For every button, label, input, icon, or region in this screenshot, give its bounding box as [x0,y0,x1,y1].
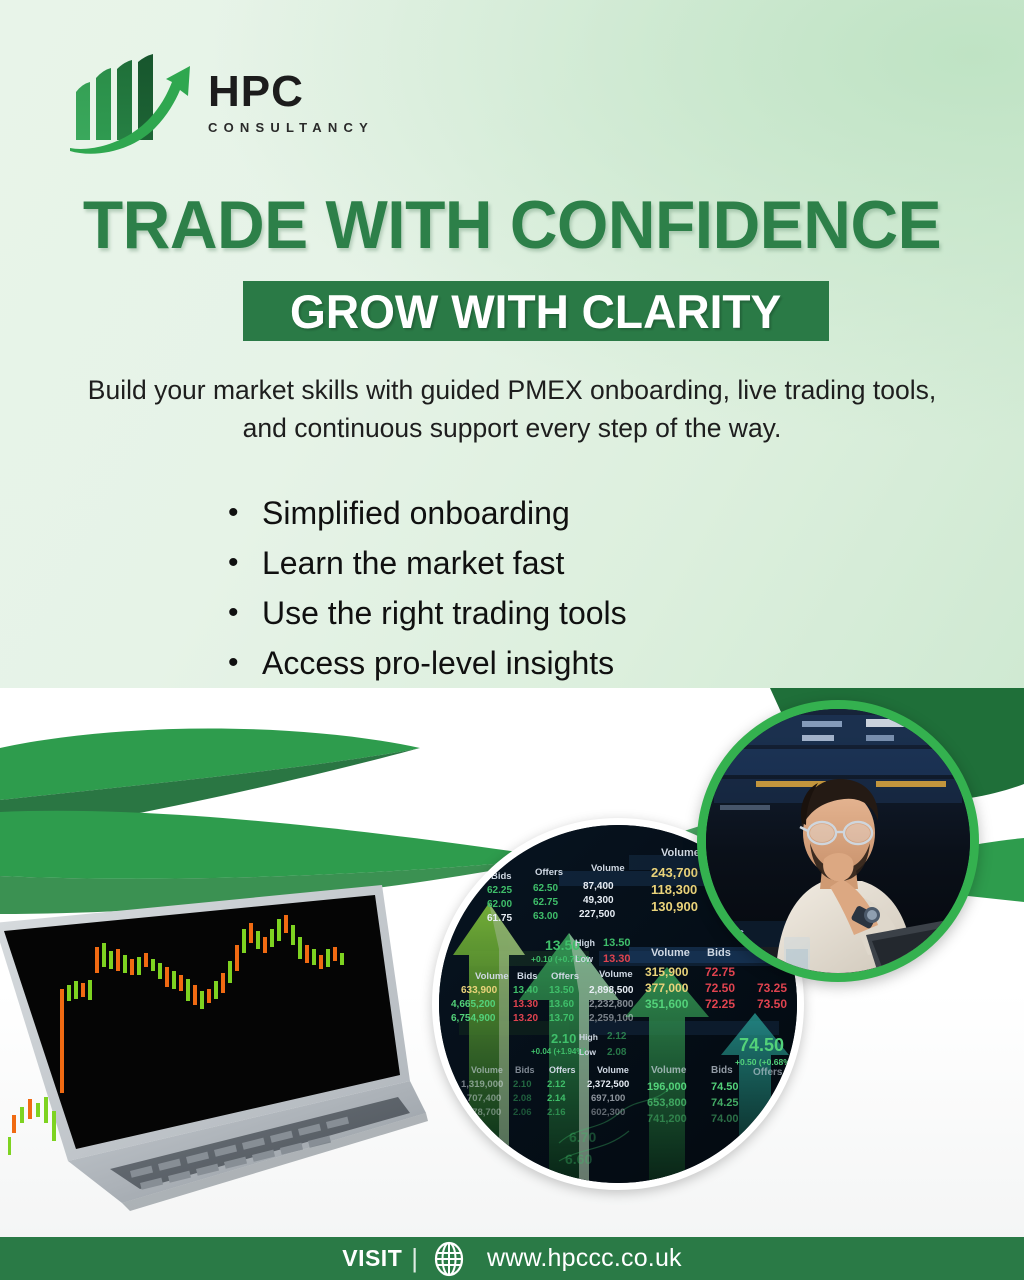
ticker-low: 2.08 [607,1047,626,1058]
board-bid: 74.00 [711,1113,739,1125]
board-volume: 633,900 [461,985,497,996]
list-item: Simplified onboarding [228,488,848,538]
board-header-offers: Offers [549,1065,576,1075]
board-volume: 6,754,900 [451,1013,496,1024]
board-header-offers: Offers [551,971,579,982]
board-bid: 2.06 [513,1107,532,1118]
ticker-high: 2.12 [607,1031,626,1042]
board-header-volume: Volume [471,1065,503,1075]
board-header-volume: Volume [591,863,625,874]
board-header-offers: Offers [535,867,563,878]
subheadline-banner: GROW WITH CLARITY [243,281,829,341]
board-price-large: 74.50 [739,1035,784,1056]
board-header-volume: Volume [475,971,509,982]
list-item: Learn the market fast [228,538,848,588]
ticker-high: 13.50 [603,937,631,949]
board-volume: 1,578,700 [459,1107,501,1118]
board-axis-label: 6.70 [569,1129,596,1145]
board-offer: 13.50 [549,985,574,996]
board-axis-label: 6.60 [565,1151,592,1167]
logo-wordmark: HPC CONSULTANCY [208,70,374,135]
board-price-change: +0.50 (+0.68%) [735,1057,794,1067]
board-header-volume: Volume [597,1065,629,1075]
footer-divider: | [411,1243,418,1274]
board-offer: 73.50 [757,997,787,1011]
board-offer: 73.25 [757,981,787,995]
board-volume: 87,400 [583,881,614,892]
board-offer: 62.50 [533,883,558,894]
board-bid: 13.40 [513,985,538,996]
board-bid: 62.25 [487,885,512,896]
ticker-change: +0.04 (+1.94%) [531,1047,586,1056]
board-volume: 227,500 [579,909,615,920]
ticker-last: 2.10 [551,1031,576,1046]
list-item: Access pro-level insights [228,638,848,688]
headline: TRADE WITH CONFIDENCE [15,186,1008,264]
logo-name: HPC [208,70,374,114]
board-header-volume: Volume [599,969,633,980]
board-volume: 49,300 [583,895,614,906]
globe-icon [431,1241,467,1277]
board-volume: 118,300 [651,882,697,897]
board-bid: 74.50 [711,1081,739,1093]
subheadline-text: GROW WITH CLARITY [290,284,781,339]
board-bid: 13.20 [513,1013,538,1024]
board-header-volume: Volume [651,1065,686,1076]
board-bid: 61.75 [487,913,512,924]
footer-content: VISIT | www.hpccc.co.uk [342,1241,682,1277]
board-volume: 377,000 [645,981,688,995]
board-volume: 2,232,800 [589,999,634,1010]
ticker-low-label: Low [579,1047,596,1057]
board-bid: 13.30 [513,999,538,1010]
brand-logo[interactable]: HPC CONSULTANCY [68,52,368,162]
ticker-low-label: Low [575,954,593,964]
board-bid: 2.08 [513,1093,532,1104]
board-header-offers: Offers [753,1067,782,1078]
board-volume: 653,800 [647,1097,687,1109]
board-volume: 602,300 [591,1107,625,1118]
board-offer: 62.75 [533,897,558,908]
svg-text:Bids: Bids [716,925,744,940]
bar-chart-arrow-logo-icon [68,52,198,157]
board-offer: 2.16 [547,1107,566,1118]
board-volume: 315,900 [645,965,688,979]
laptop-candlestick-chart [0,885,430,1215]
board-volume: 741,200 [647,1113,687,1125]
board-bid: 2.10 [513,1079,532,1090]
logo-tagline: CONSULTANCY [208,120,374,135]
board-offer: 13.60 [549,999,574,1010]
poster-canvas: HPC CONSULTANCY TRADE WITH CONFIDENCE GR… [0,0,1024,1280]
board-volume: 130,900 [651,899,698,914]
board-bid: 72.25 [705,997,735,1011]
ticker-high-label: High [579,1032,598,1042]
board-header-bids: Bids [517,971,538,982]
board-volume: 1,707,400 [459,1093,501,1104]
board-bid: 62.00 [487,899,512,910]
board-volume: 2,259,100 [589,1013,634,1024]
body-copy: Build your market skills with guided PME… [82,372,942,447]
board-bid: 74.25 [711,1097,739,1109]
board-volume: 351,600 [645,997,688,1011]
board-volume: 196,000 [647,1081,687,1093]
board-offer: 63.00 [533,911,558,922]
board-volume: 243,700 [651,865,698,880]
board-offer: 13.70 [549,1013,574,1024]
list-item: Use the right trading tools [228,588,848,638]
board-offer: 2.14 [547,1093,566,1104]
visit-label: VISIT [342,1245,402,1272]
website-link[interactable]: www.hpccc.co.uk [487,1244,682,1273]
board-header-bids: Bids [515,1065,535,1075]
board-bid: 72.50 [705,981,735,995]
board-header-bids: Bids [491,871,512,882]
board-offer: 2.12 [547,1079,566,1090]
board-volume: 2,898,500 [589,985,634,996]
ticker-low: 13.30 [603,953,631,965]
board-volume: 1,319,000 [461,1079,503,1090]
board-volume: 2,372,500 [587,1079,629,1090]
ticker-high-label: High [575,938,595,948]
board-header-bids: Bids [711,1065,733,1076]
board-volume: 697,100 [591,1093,625,1104]
footer-bar: VISIT | www.hpccc.co.uk [0,1237,1024,1280]
board-header-volume: Volume [651,947,690,959]
board-volume: 4,665,200 [451,999,496,1010]
trader-at-laptop-photo: Bids 72.75 72.50 [697,700,979,982]
board-header-volume: Volume [661,847,700,859]
